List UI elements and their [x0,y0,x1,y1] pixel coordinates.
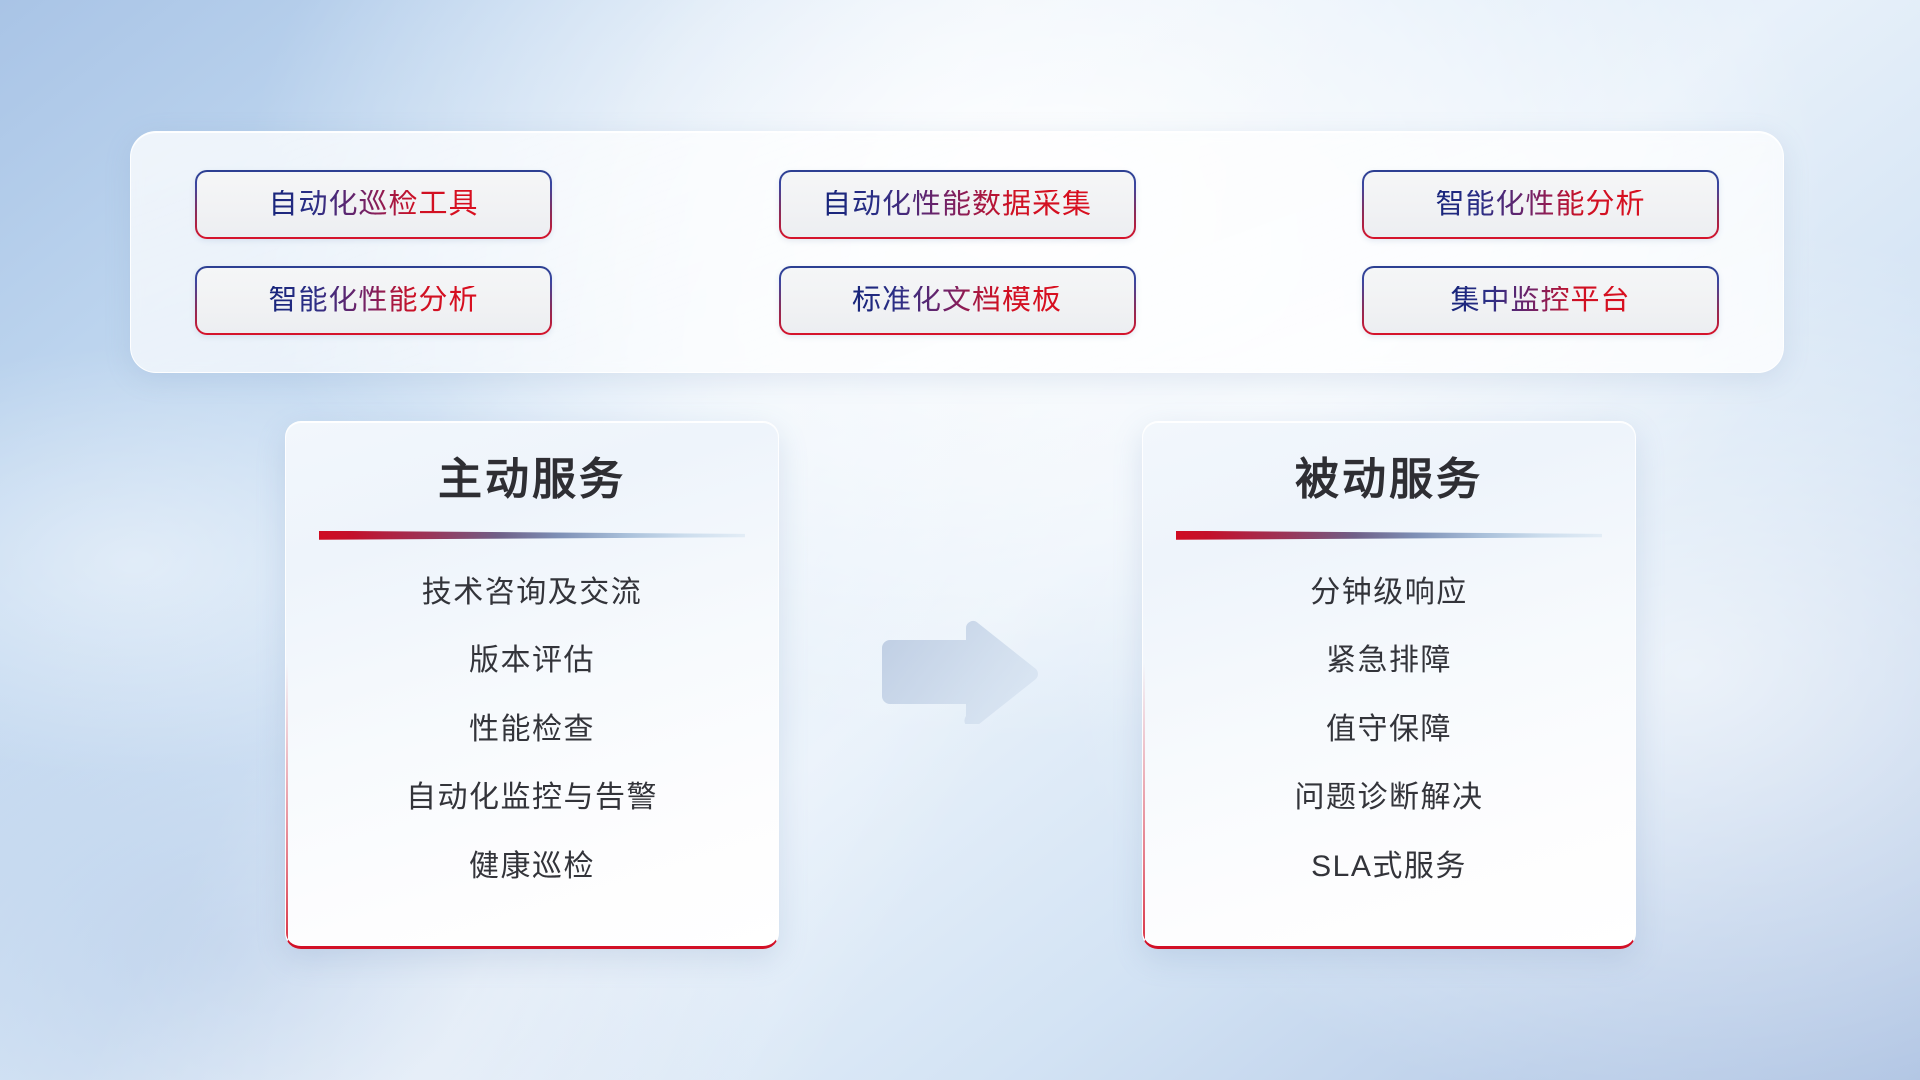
arrow-right-icon [876,620,1039,724]
diagram-canvas: 自动化巡检工具 自动化性能数据采集 智能化性能分析 智能化性能分析 [0,0,1920,1080]
capability-pill-1-label: 自动化巡检工具 [268,190,478,219]
passive-service-card[interactable]: 被动服务 分钟级响应 紧急排障 值守保障 问题诊断解决 SLA式服务 [1142,421,1636,949]
list-item: 技术咨询及交流 [422,574,643,612]
capability-pill-1[interactable]: 自动化巡检工具 [195,170,552,239]
passive-service-divider-bar [1176,531,1602,540]
capability-pill-6[interactable]: 集中监控平台 [1362,266,1719,335]
capability-pill-3-label: 智能化性能分析 [1435,190,1645,219]
active-service-title: 主动服务 [286,454,778,507]
capability-pill-3-inner: 智能化性能分析 [1364,172,1717,237]
passive-service-title: 被动服务 [1143,454,1635,507]
capability-pill-2[interactable]: 自动化性能数据采集 [779,170,1136,239]
list-item: 性能检查 [469,711,595,749]
capability-pill-5[interactable]: 标准化文档模板 [779,266,1136,335]
active-service-divider-bar [319,531,745,540]
capabilities-row-1: 自动化巡检工具 自动化性能数据采集 智能化性能分析 [195,170,1719,239]
list-item: 问题诊断解决 [1295,779,1484,817]
passive-service-divider [1176,531,1602,540]
passive-service-list: 分钟级响应 紧急排障 值守保障 问题诊断解决 SLA式服务 [1143,574,1635,886]
capability-pill-4-label: 智能化性能分析 [268,286,478,315]
list-item: 健康巡检 [469,848,595,886]
capability-pill-5-inner: 标准化文档模板 [781,268,1134,333]
active-service-divider [319,531,745,540]
list-item: 值守保障 [1326,711,1452,749]
capability-pill-6-inner: 集中监控平台 [1364,268,1717,333]
capability-pill-3[interactable]: 智能化性能分析 [1362,170,1719,239]
active-service-list: 技术咨询及交流 版本评估 性能检查 自动化监控与告警 健康巡检 [286,574,778,886]
capability-pill-1-inner: 自动化巡检工具 [197,172,550,237]
capability-pill-5-label: 标准化文档模板 [852,286,1062,315]
capability-pill-6-label: 集中监控平台 [1450,286,1630,315]
capability-pill-2-label: 自动化性能数据采集 [822,190,1092,219]
capabilities-row-2: 智能化性能分析 标准化文档模板 集中监控平台 [195,266,1719,335]
capability-pill-4[interactable]: 智能化性能分析 [195,266,552,335]
list-item: 分钟级响应 [1310,574,1468,612]
capabilities-panel: 自动化巡检工具 自动化性能数据采集 智能化性能分析 智能化性能分析 [130,131,1784,373]
list-item: SLA式服务 [1311,848,1467,886]
list-item: 紧急排障 [1326,642,1452,680]
capability-pill-2-inner: 自动化性能数据采集 [781,172,1134,237]
active-service-card[interactable]: 主动服务 技术咨询及交流 版本评估 性能检查 自动化监控与告警 健康巡检 [285,421,779,949]
list-item: 自动化监控与告警 [406,779,658,817]
capability-pill-4-inner: 智能化性能分析 [197,268,550,333]
list-item: 版本评估 [469,642,595,680]
